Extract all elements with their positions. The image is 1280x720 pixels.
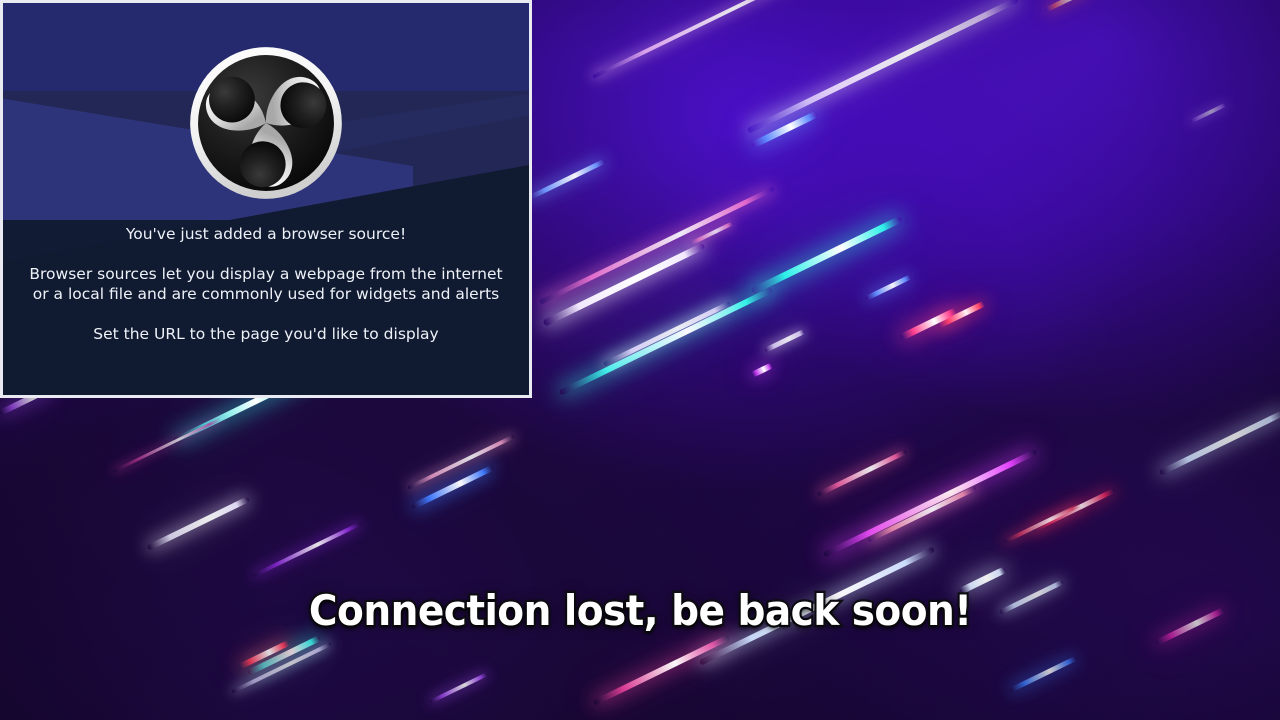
panel-body-line-1: Browser sources let you display a webpag… [29,265,502,283]
stream-canvas: You've just added a browser source! Brow… [0,0,1280,720]
obs-browser-source-panel[interactable]: You've just added a browser source! Brow… [0,0,532,398]
panel-body-line-2: or a local file and are commonly used fo… [33,285,499,303]
panel-copy: You've just added a browser source! Brow… [3,224,529,344]
panel-hint: Set the URL to the page you'd like to di… [3,324,529,345]
panel-body: Browser sources let you display a webpag… [3,264,529,305]
panel-headline: You've just added a browser source! [3,224,529,245]
obs-studio-logo-icon [187,44,345,202]
